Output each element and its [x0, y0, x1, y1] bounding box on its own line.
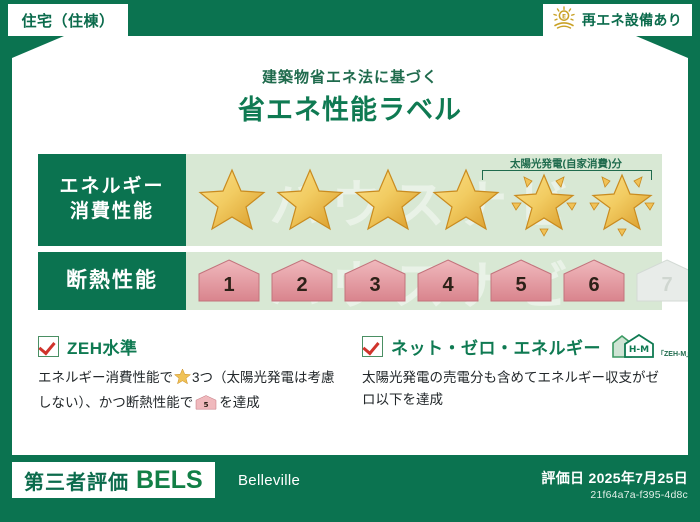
criterion-nze-title: ネット・ゼロ・エネルギー: [391, 334, 601, 359]
renewable-equipment-badge: E 再エネ設備あり: [543, 4, 692, 36]
insulation-level-list: 1 2 3: [186, 252, 662, 310]
insulation-level-value: 1: [196, 258, 262, 304]
check-icon: [362, 336, 383, 357]
criterion-nze-header: ネット・ゼロ・エネルギー H-M 「ZEH-M」: [362, 334, 672, 358]
insulation-level-4: 4: [415, 258, 481, 304]
svg-text:H-M: H-M: [629, 345, 649, 355]
energy-star: [196, 161, 268, 239]
insulation-level-3: 3: [342, 258, 408, 304]
energy-label-line2: 消費性能: [70, 200, 154, 225]
insulation-badge-icon: 5: [195, 394, 217, 418]
insulation-level-value: 7: [634, 258, 700, 304]
star-icon: [174, 368, 191, 392]
building-type-chip: 住宅（住棟）: [8, 4, 128, 36]
zeh-text-a: エネルギー消費性能で: [38, 370, 173, 385]
zeh-text-c: を達成: [219, 395, 260, 410]
check-icon: [38, 336, 59, 357]
insulation-level-value: 3: [342, 258, 408, 304]
criterion-net-zero-energy: ネット・ゼロ・エネルギー H-M 「ZEH-M」 太陽光発電の売電分も含めてエネ…: [362, 334, 672, 412]
energy-performance-row: エネルギー 消費性能 ハウスナビ 太陽光発電(自家消費)分: [38, 154, 662, 246]
criterion-zeh-header: ZEH水準: [38, 334, 338, 358]
evaluation-date: 評価日 2025年7月25日: [541, 468, 688, 488]
insulation-level-2: 2: [269, 258, 335, 304]
insulation-level-1: 1: [196, 258, 262, 304]
energy-star: [430, 161, 502, 239]
energy-label-root: 住宅（住棟） E 再エネ設備あり 建築物: [0, 0, 700, 522]
bels-chip: 第三者評価 BELS: [12, 462, 215, 498]
brand-name: Belleville: [238, 472, 300, 489]
insulation-performance-label: 断熱性能: [38, 252, 186, 310]
insulation-level-value: 5: [488, 258, 554, 304]
evaluation-id: 21f64a7a-f395-4d8c: [590, 489, 688, 501]
insulation-label-text: 断熱性能: [66, 267, 158, 294]
insulation-performance-row: 断熱性能 ハウスナビ 1: [38, 252, 662, 310]
energy-star: [352, 161, 424, 239]
insulation-rating-area: ハウスナビ 1 2: [186, 252, 662, 310]
energy-star-solar: [508, 161, 580, 239]
insulation-level-value: 4: [415, 258, 481, 304]
energy-label-line1: エネルギー: [59, 175, 164, 200]
building-type-label: 住宅（住棟）: [21, 10, 114, 31]
renewable-badge-label: 再エネ設備あり: [582, 10, 682, 30]
criterion-zeh-description: エネルギー消費性能で3つ（太陽光発電は考慮しない）、かつ断熱性能で5を達成: [38, 367, 338, 419]
zeh-m-house-icon: H-M 「ZEH-M」: [611, 333, 693, 359]
svg-text:E: E: [562, 13, 566, 20]
energy-star-solar: [586, 161, 658, 239]
zeh-star-count: 3つ: [192, 370, 213, 385]
criterion-zeh-title: ZEH水準: [67, 334, 138, 359]
insulation-level-5: 5: [488, 258, 554, 304]
criterion-zeh: ZEH水準 エネルギー消費性能で3つ（太陽光発電は考慮しない）、かつ断熱性能で5…: [38, 334, 338, 419]
energy-star-list: [186, 154, 662, 246]
energy-star: [274, 161, 346, 239]
energy-performance-label: エネルギー 消費性能: [38, 154, 186, 246]
bels-jp-label: 第三者評価: [24, 466, 129, 495]
energy-rating-area: ハウスナビ 太陽光発電(自家消費)分: [186, 154, 662, 246]
page-title: 省エネ性能ラベル: [12, 88, 688, 127]
insulation-level-value: 6: [561, 258, 627, 304]
insulation-level-7: 7: [634, 258, 700, 304]
insulation-level-value: 2: [269, 258, 335, 304]
content-panel: 建築物省エネ法に基づく 省エネ性能ラベル エネルギー 消費性能 ハウスナビ 太陽…: [12, 36, 688, 454]
insulation-level-6: 6: [561, 258, 627, 304]
label-subtitle: 建築物省エネ法に基づく: [12, 66, 688, 87]
criterion-nze-description: 太陽光発電の売電分も含めてエネルギー収支がゼロ以下を達成: [362, 367, 672, 412]
footer-divider: [12, 452, 688, 455]
zeh-m-tag: 「ZEH-M」: [657, 349, 693, 359]
solar-sun-icon: E: [551, 6, 577, 35]
bels-logo-text: BELS: [136, 466, 203, 495]
svg-text:5: 5: [204, 400, 209, 409]
